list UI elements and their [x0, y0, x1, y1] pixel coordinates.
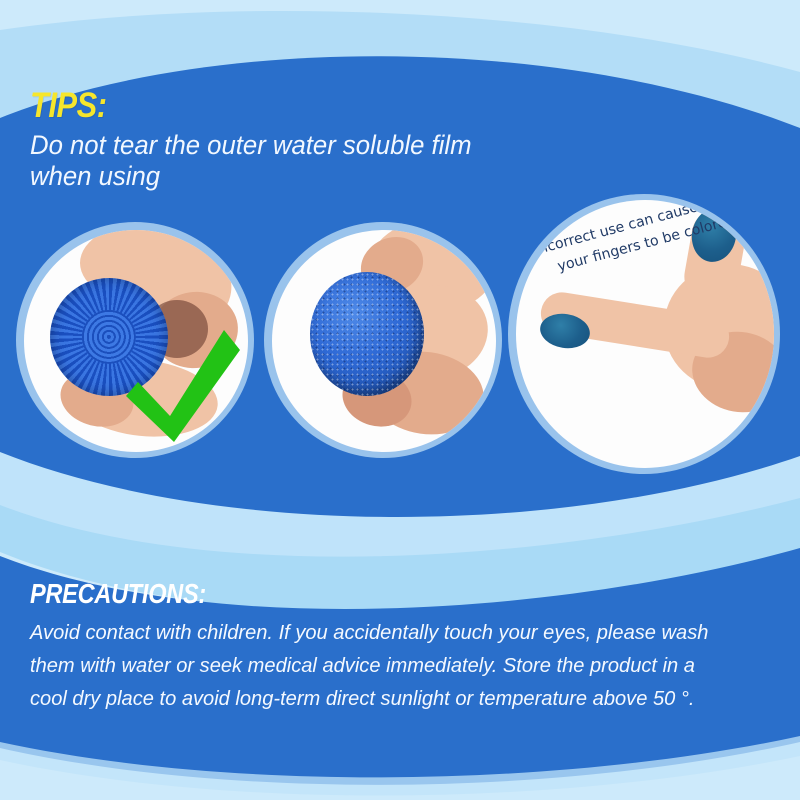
precautions-line-3: cool dry place to avoid long-term direct…: [30, 683, 767, 716]
check-icon: [124, 320, 242, 448]
photo-oval-correct: [24, 230, 248, 452]
precautions-section: PRECAUTIONS: Avoid contact with children…: [30, 580, 778, 716]
photo-card-correct: [10, 218, 260, 468]
infographic-canvas: TIPS: Do not tear the outer water solubl…: [0, 0, 800, 800]
photo-oval-stained: Incorrect use can cause your fingers to …: [516, 200, 774, 468]
tips-section: TIPS: Do not tear the outer water solubl…: [30, 88, 590, 191]
product-tablet-bare: [310, 272, 424, 396]
tips-line-1: Do not tear the outer water soluble film: [30, 130, 573, 161]
photo-card-stained-fingers: Incorrect use can cause your fingers to …: [504, 218, 784, 468]
tips-body: Do not tear the outer water soluble film…: [30, 130, 573, 191]
tips-heading: TIPS:: [30, 88, 523, 123]
precautions-body: Avoid contact with children. If you acci…: [30, 617, 767, 716]
tips-line-2: when using: [30, 161, 573, 192]
precautions-line-1: Avoid contact with children. If you acci…: [30, 617, 767, 650]
photo-row: Incorrect use can cause your fingers to …: [0, 218, 800, 468]
photo-oval-incorrect: [272, 230, 496, 452]
precautions-heading: PRECAUTIONS:: [30, 580, 658, 608]
precautions-line-2: them with water or seek medical advice i…: [30, 650, 767, 683]
photo-card-incorrect: [258, 218, 508, 468]
